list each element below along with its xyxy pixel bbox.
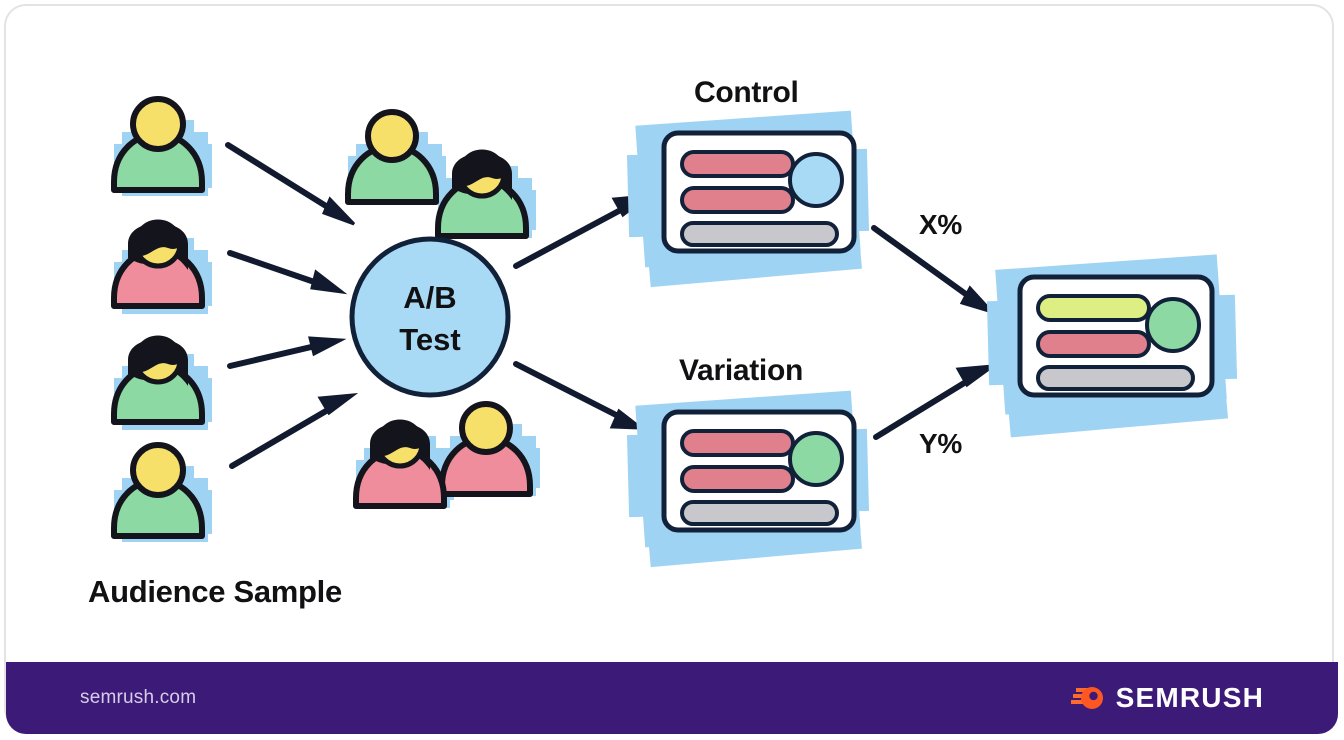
arrow-abtest-to-variation	[516, 364, 641, 428]
ab-test-diagram: A/B Test Control Variation X% Y% Audienc…	[0, 0, 1344, 656]
result-card[interactable]	[987, 254, 1237, 437]
audience-person-4	[114, 445, 202, 536]
variation-label: Variation	[679, 354, 803, 388]
result-card-bar-3	[1038, 367, 1193, 389]
result-card-bar-2	[1038, 332, 1149, 356]
variation-card-bar-1	[682, 431, 793, 455]
semrush-brand: SEMRUSH	[1071, 682, 1306, 714]
result-card-circle	[1147, 299, 1199, 351]
arrow-group-inbound	[228, 145, 354, 466]
variation-group-person-2	[442, 404, 530, 494]
arrow-group-result	[874, 228, 993, 437]
ab-test-label-line2: Test	[399, 322, 460, 357]
control-rate-label: X%	[919, 209, 962, 241]
control-card-bar-1	[682, 152, 793, 176]
audience-person-3	[114, 338, 202, 422]
variation-card[interactable]	[627, 391, 869, 567]
arrow-person4-to-abtest	[232, 395, 353, 466]
variation-card-bar-3	[682, 502, 837, 524]
variation-rate-label: Y%	[919, 428, 962, 460]
variation-card-bar-2	[682, 467, 793, 491]
arrow-variation-to-result	[876, 366, 993, 437]
ab-test-label-line1: A/B	[403, 280, 456, 315]
control-card-circle	[790, 154, 842, 206]
control-group-person-1	[348, 112, 436, 202]
variation-card-circle	[790, 433, 842, 485]
semrush-wordmark: SEMRUSH	[1116, 682, 1264, 714]
arrow-person3-to-abtest	[230, 338, 341, 366]
arrow-group-split	[516, 196, 648, 428]
semrush-comet-icon	[1071, 683, 1105, 713]
control-card-bar-2	[682, 188, 793, 212]
control-label: Control	[694, 76, 799, 110]
ab-test-node[interactable]	[352, 239, 508, 395]
footer-bar: semrush.com SEMRUSH	[6, 662, 1338, 734]
audience-sample-label: Audience Sample	[88, 574, 342, 610]
variation-group-person-1	[356, 422, 444, 506]
result-card-bar-1	[1038, 296, 1149, 320]
arrow-person2-to-abtest	[230, 253, 342, 292]
control-group-person-2	[438, 152, 526, 236]
arrow-person1-to-abtest	[228, 145, 354, 224]
audience-person-2	[114, 222, 202, 306]
control-card[interactable]	[627, 111, 869, 287]
footer-url[interactable]: semrush.com	[80, 687, 196, 709]
diagram-graphics: A/B Test	[0, 0, 1344, 656]
diagram-canvas: A/B Test Control Variation X% Y% Audienc…	[0, 0, 1344, 740]
audience-person-1	[114, 99, 202, 190]
control-card-bar-3	[682, 223, 837, 245]
